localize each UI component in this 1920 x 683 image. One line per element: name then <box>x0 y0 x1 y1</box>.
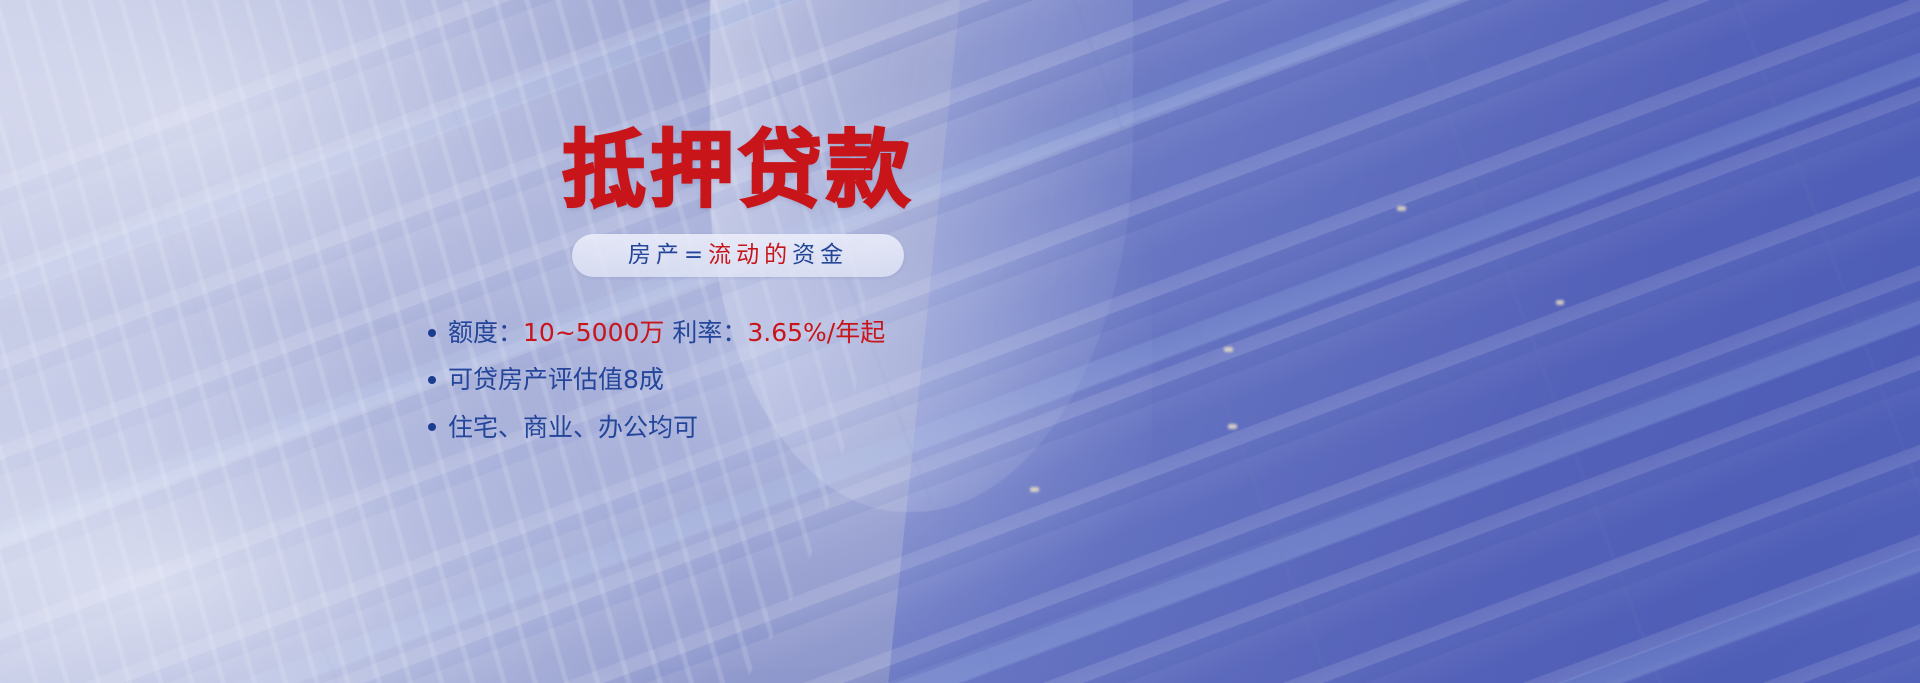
bullet-dot-icon <box>428 423 436 431</box>
bullet-dot-icon <box>428 329 436 337</box>
rate-value: 3.65%/年起 <box>747 318 885 347</box>
subtitle-pill: 房产=流动的资金 <box>572 234 904 277</box>
bullet-1-content: 额度：10~5000万 利率：3.65%/年起 <box>448 317 885 348</box>
rate-label: 利率： <box>664 318 747 347</box>
feature-list: 额度：10~5000万 利率：3.65%/年起 可贷房产评估值8成 住宅、商业、… <box>428 317 1058 443</box>
subtitle-part-funds: 资金 <box>792 242 848 268</box>
promo-banner: 抵押贷款 房产=流动的资金 额度：10~5000万 利率：3.65%/年起 可贷… <box>0 0 1920 683</box>
page-title: 抵押贷款 <box>418 128 1058 212</box>
subtitle-part-liquid: 流动的 <box>708 242 792 268</box>
list-item: 可贷房产评估值8成 <box>428 364 1058 395</box>
subtitle-text: 房产=流动的资金 <box>628 244 848 267</box>
list-item: 住宅、商业、办公均可 <box>428 412 1058 443</box>
amount-label: 额度： <box>448 318 523 347</box>
subtitle-part-property: 房产 <box>628 242 684 268</box>
subtitle-equals-sign: = <box>684 242 708 268</box>
bullet-2-text: 可贷房产评估值8成 <box>448 364 664 395</box>
amount-value: 10~5000万 <box>523 318 664 347</box>
list-item: 额度：10~5000万 利率：3.65%/年起 <box>428 317 1058 348</box>
banner-content: 抵押贷款 房产=流动的资金 额度：10~5000万 利率：3.65%/年起 可贷… <box>418 128 1058 459</box>
bullet-3-text: 住宅、商业、办公均可 <box>448 412 698 443</box>
bullet-dot-icon <box>428 376 436 384</box>
